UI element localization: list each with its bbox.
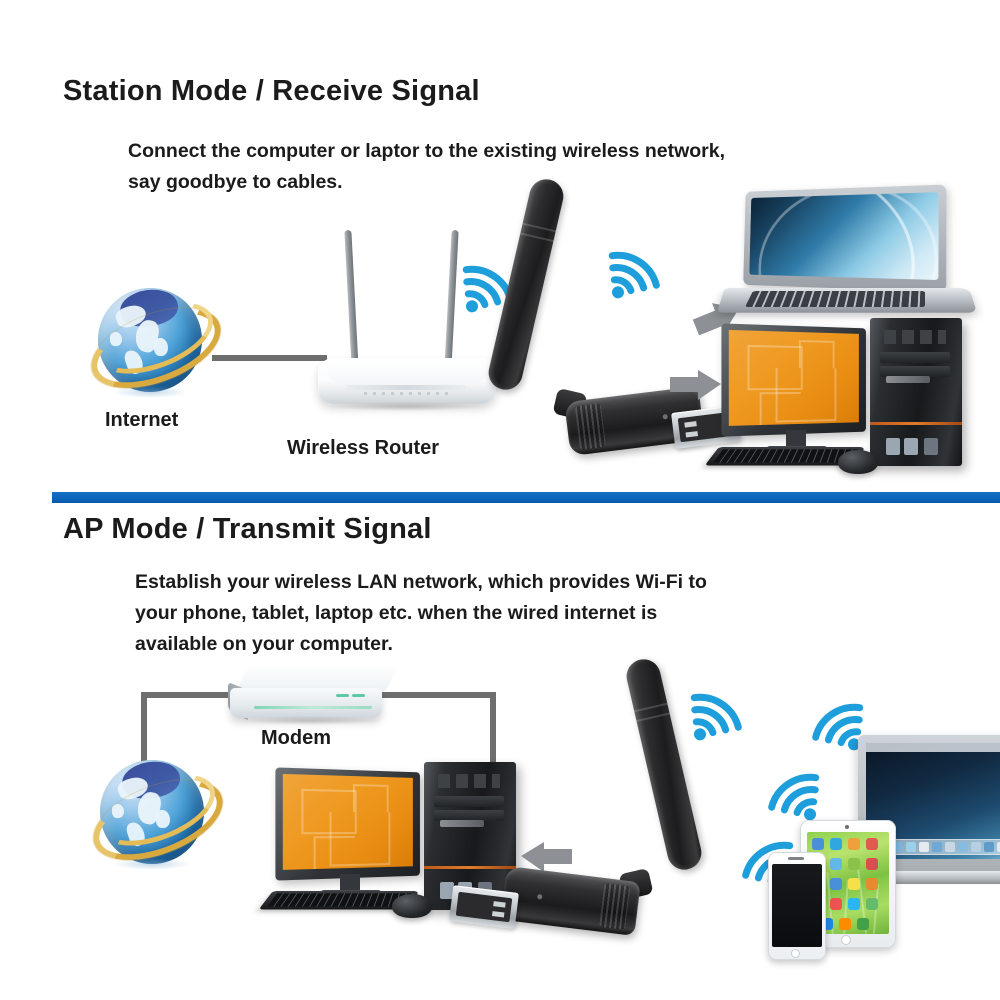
section-body-ap-mode: Establish your wireless LAN network, whi…: [135, 567, 925, 660]
internet-globe-icon: [92, 752, 212, 872]
wireless-router-label: Wireless Router: [287, 437, 439, 460]
wifi-signal-icon: [685, 685, 753, 752]
laptop-device: [715, 188, 980, 328]
infographic-page: Station Mode / Receive Signal Connect th…: [0, 0, 1000, 1000]
section-title-station-mode: Station Mode / Receive Signal: [63, 75, 480, 108]
cable-internet-to-router: [212, 355, 327, 361]
usb-wifi-adapter-device: [495, 175, 710, 465]
ap-body-line-2: your phone, tablet, laptop etc. when the…: [135, 598, 925, 629]
section-divider-bar: [52, 492, 1000, 503]
station-body-line-1: Connect the computer or laptor to the ex…: [128, 136, 888, 167]
section-title-ap-mode: AP Mode / Transmit Signal: [63, 513, 432, 546]
usb-wifi-adapter-device: [495, 655, 710, 945]
internet-label: Internet: [105, 409, 178, 432]
ap-body-line-1: Establish your wireless LAN network, whi…: [135, 567, 925, 598]
internet-globe-icon: [90, 280, 210, 400]
desktop-pc-device: [712, 318, 992, 483]
modem-label: Modem: [261, 727, 331, 750]
smartphone-device: [768, 852, 826, 960]
